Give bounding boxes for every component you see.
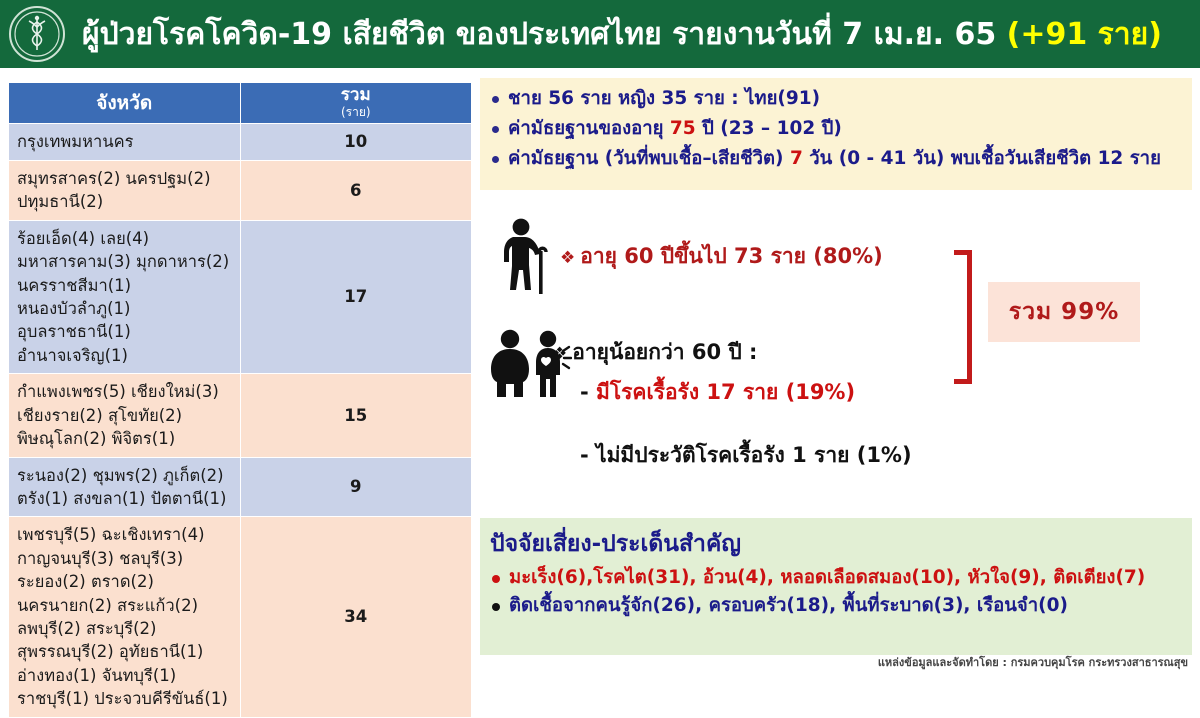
bullet-dot-icon [492,603,500,611]
page-title: ผู้ป่วยโรคโควิด-19 เสียชีวิต ของประเทศไท… [82,18,1162,51]
table-row: เพชรบุรี(5) ฉะเชิงเทรา(4) กาญจนบุรี(3) ช… [9,517,472,717]
bullet-dot-icon [492,156,499,163]
bullet-dot-icon [492,96,499,103]
page-header: ผู้ป่วยโรคโควิด-19 เสียชีวิต ของประเทศไท… [0,0,1200,68]
summary-line: ค่ามัธยฐานของอายุ 75 ปี (23 – 102 ปี) [490,117,1192,141]
summary-line-pre: ค่ามัธยฐาน (วันที่พบเชื้อ–เสียชีวิต) [508,148,790,169]
row-total: 6 [240,160,472,220]
risk-factors-title: ปัจจัยเสี่ยง-ประเด็นสำคัญ [490,526,1192,562]
page-title-new-cases: (+91 ราย) [1007,17,1162,52]
row-total: 34 [240,517,472,717]
row-total: 10 [240,124,472,160]
source-attribution: แหล่งข้อมูลและจัดทำโดย : กรมควบคุมโรค กร… [878,653,1188,671]
dash-prefix: - [580,380,596,404]
row-provinces: ระนอง(2) ชุมพร(2) ภูเก็ต(2) ตรัง(1) สงขล… [9,457,241,517]
summary-line-post: ปี (23 – 102 ปี) [696,118,842,139]
age-under-60-line: ❖อายุน้อยกว่า 60 ปี : [552,336,757,369]
table-body: กรุงเทพมหานคร 10 สมุทรสาคร(2) นครปฐม(2) … [9,124,472,717]
elderly-person-with-cane-icon [494,218,556,300]
page-title-main: ผู้ป่วยโรคโควิด-19 เสียชีวิต ของประเทศไท… [82,17,1007,52]
risk-factor-diseases-text: มะเร็ง(6),โรคไต(31), อ้วน(4), หลอดเลือดส… [509,566,1145,590]
table-row: ระนอง(2) ชุมพร(2) ภูเก็ต(2) ตรัง(1) สงขล… [9,457,472,517]
summary-line: ค่ามัธยฐาน (วันที่พบเชื้อ–เสียชีวิต) 7 ว… [490,147,1192,171]
risk-factor-line: ติดเชื้อจากคนรู้จัก(26), ครอบครัว(18), พ… [492,594,1192,618]
row-provinces: กำแพงเพชร(5) เชียงใหม่(3) เชียงราย(2) สุ… [9,374,241,457]
summary-line-value: 75 [670,118,696,139]
chronic-disease-text: มีโรคเรื้อรัง 17 ราย (19%) [596,380,855,404]
risk-factors-box: ปัจจัยเสี่ยง-ประเด็นสำคัญ มะเร็ง(6),โรคไ… [480,518,1192,655]
table-row: ร้อยเอ็ด(4) เลย(4) มหาสารคาม(3) มุกดาหาร… [9,220,472,374]
column-header-total: รวม (ราย) [240,83,472,124]
column-header-total-unit: (ราย) [241,106,472,119]
row-total: 15 [240,374,472,457]
summary-line-value: 7 [790,148,803,169]
table-row: กรุงเทพมหานคร 10 [9,124,472,160]
row-total: 9 [240,457,472,517]
grouping-bracket-icon [954,250,972,384]
column-header-province: จังหวัด [9,83,241,124]
ministry-of-public-health-emblem-icon [6,3,68,65]
row-provinces: สมุทรสาคร(2) นครปฐม(2) ปทุมธานี(2) [9,160,241,220]
row-provinces: กรุงเทพมหานคร [9,124,241,160]
province-table-container: จังหวัด รวม (ราย) กรุงเทพมหานคร 10 สมุทร… [8,82,472,718]
total-percentage-badge: รวม 99% [988,282,1140,342]
diamond-bullet-icon: ❖ [560,248,575,268]
summary-line-text: ค่ามัธยฐาน (วันที่พบเชื้อ–เสียชีวิต) 7 ว… [508,147,1161,171]
summary-line-pre: ชาย 56 ราย หญิง 35 ราย : ไทย(91) [508,88,820,109]
risk-factor-exposure-text: ติดเชื้อจากคนรู้จัก(26), ครอบครัว(18), พ… [509,594,1068,618]
diamond-bullet-icon: ❖ [552,344,567,364]
table-header-row: จังหวัด รวม (ราย) [9,83,472,124]
summary-line-post: วัน (0 - 41 วัน) พบเชื้อวันเสียชีวิต 12 … [803,148,1161,169]
age-60-plus-line: ❖อายุ 60 ปีขึ้นไป 73 ราย (80%) [560,240,883,273]
summary-line-text: ชาย 56 ราย หญิง 35 ราย : ไทย(91) [508,87,820,111]
total-percentage-text: รวม 99% [1009,294,1120,330]
age-under-60-text: อายุน้อยกว่า 60 ปี : [572,340,757,364]
row-total: 17 [240,220,472,374]
summary-line-pre: ค่ามัธยฐานของอายุ [508,118,670,139]
summary-statistics-box: ชาย 56 ราย หญิง 35 ราย : ไทย(91) ค่ามัธย… [480,78,1192,190]
row-provinces: ร้อยเอ็ด(4) เลย(4) มหาสารคาม(3) มุกดาหาร… [9,220,241,374]
bullet-dot-icon [492,126,499,133]
summary-line-text: ค่ามัธยฐานของอายุ 75 ปี (23 – 102 ปี) [508,117,842,141]
summary-line: ชาย 56 ราย หญิง 35 ราย : ไทย(91) [490,87,1192,111]
chronic-disease-line: - มีโรคเรื้อรัง 17 ราย (19%) [580,376,855,409]
table-row: สมุทรสาคร(2) นครปฐม(2) ปทุมธานี(2) 6 [9,160,472,220]
province-death-table: จังหวัด รวม (ราย) กรุงเทพมหานคร 10 สมุทร… [8,82,472,718]
row-provinces: เพชรบุรี(5) ฉะเชิงเทรา(4) กาญจนบุรี(3) ช… [9,517,241,717]
column-header-total-label: รวม [341,85,371,105]
no-chronic-disease-line: - ไม่มีประวัติโรคเรื้อรัง 1 ราย (1%) [580,439,912,472]
age-60-plus-text: อายุ 60 ปีขึ้นไป 73 ราย (80%) [580,244,882,268]
table-row: กำแพงเพชร(5) เชียงใหม่(3) เชียงราย(2) สุ… [9,374,472,457]
risk-factor-line: มะเร็ง(6),โรคไต(31), อ้วน(4), หลอดเลือดส… [492,566,1192,590]
bullet-dot-icon [492,575,500,583]
age-breakdown-section: ❖อายุ 60 ปีขึ้นไป 73 ราย (80%) ❖อายุน้อย… [480,196,1192,514]
